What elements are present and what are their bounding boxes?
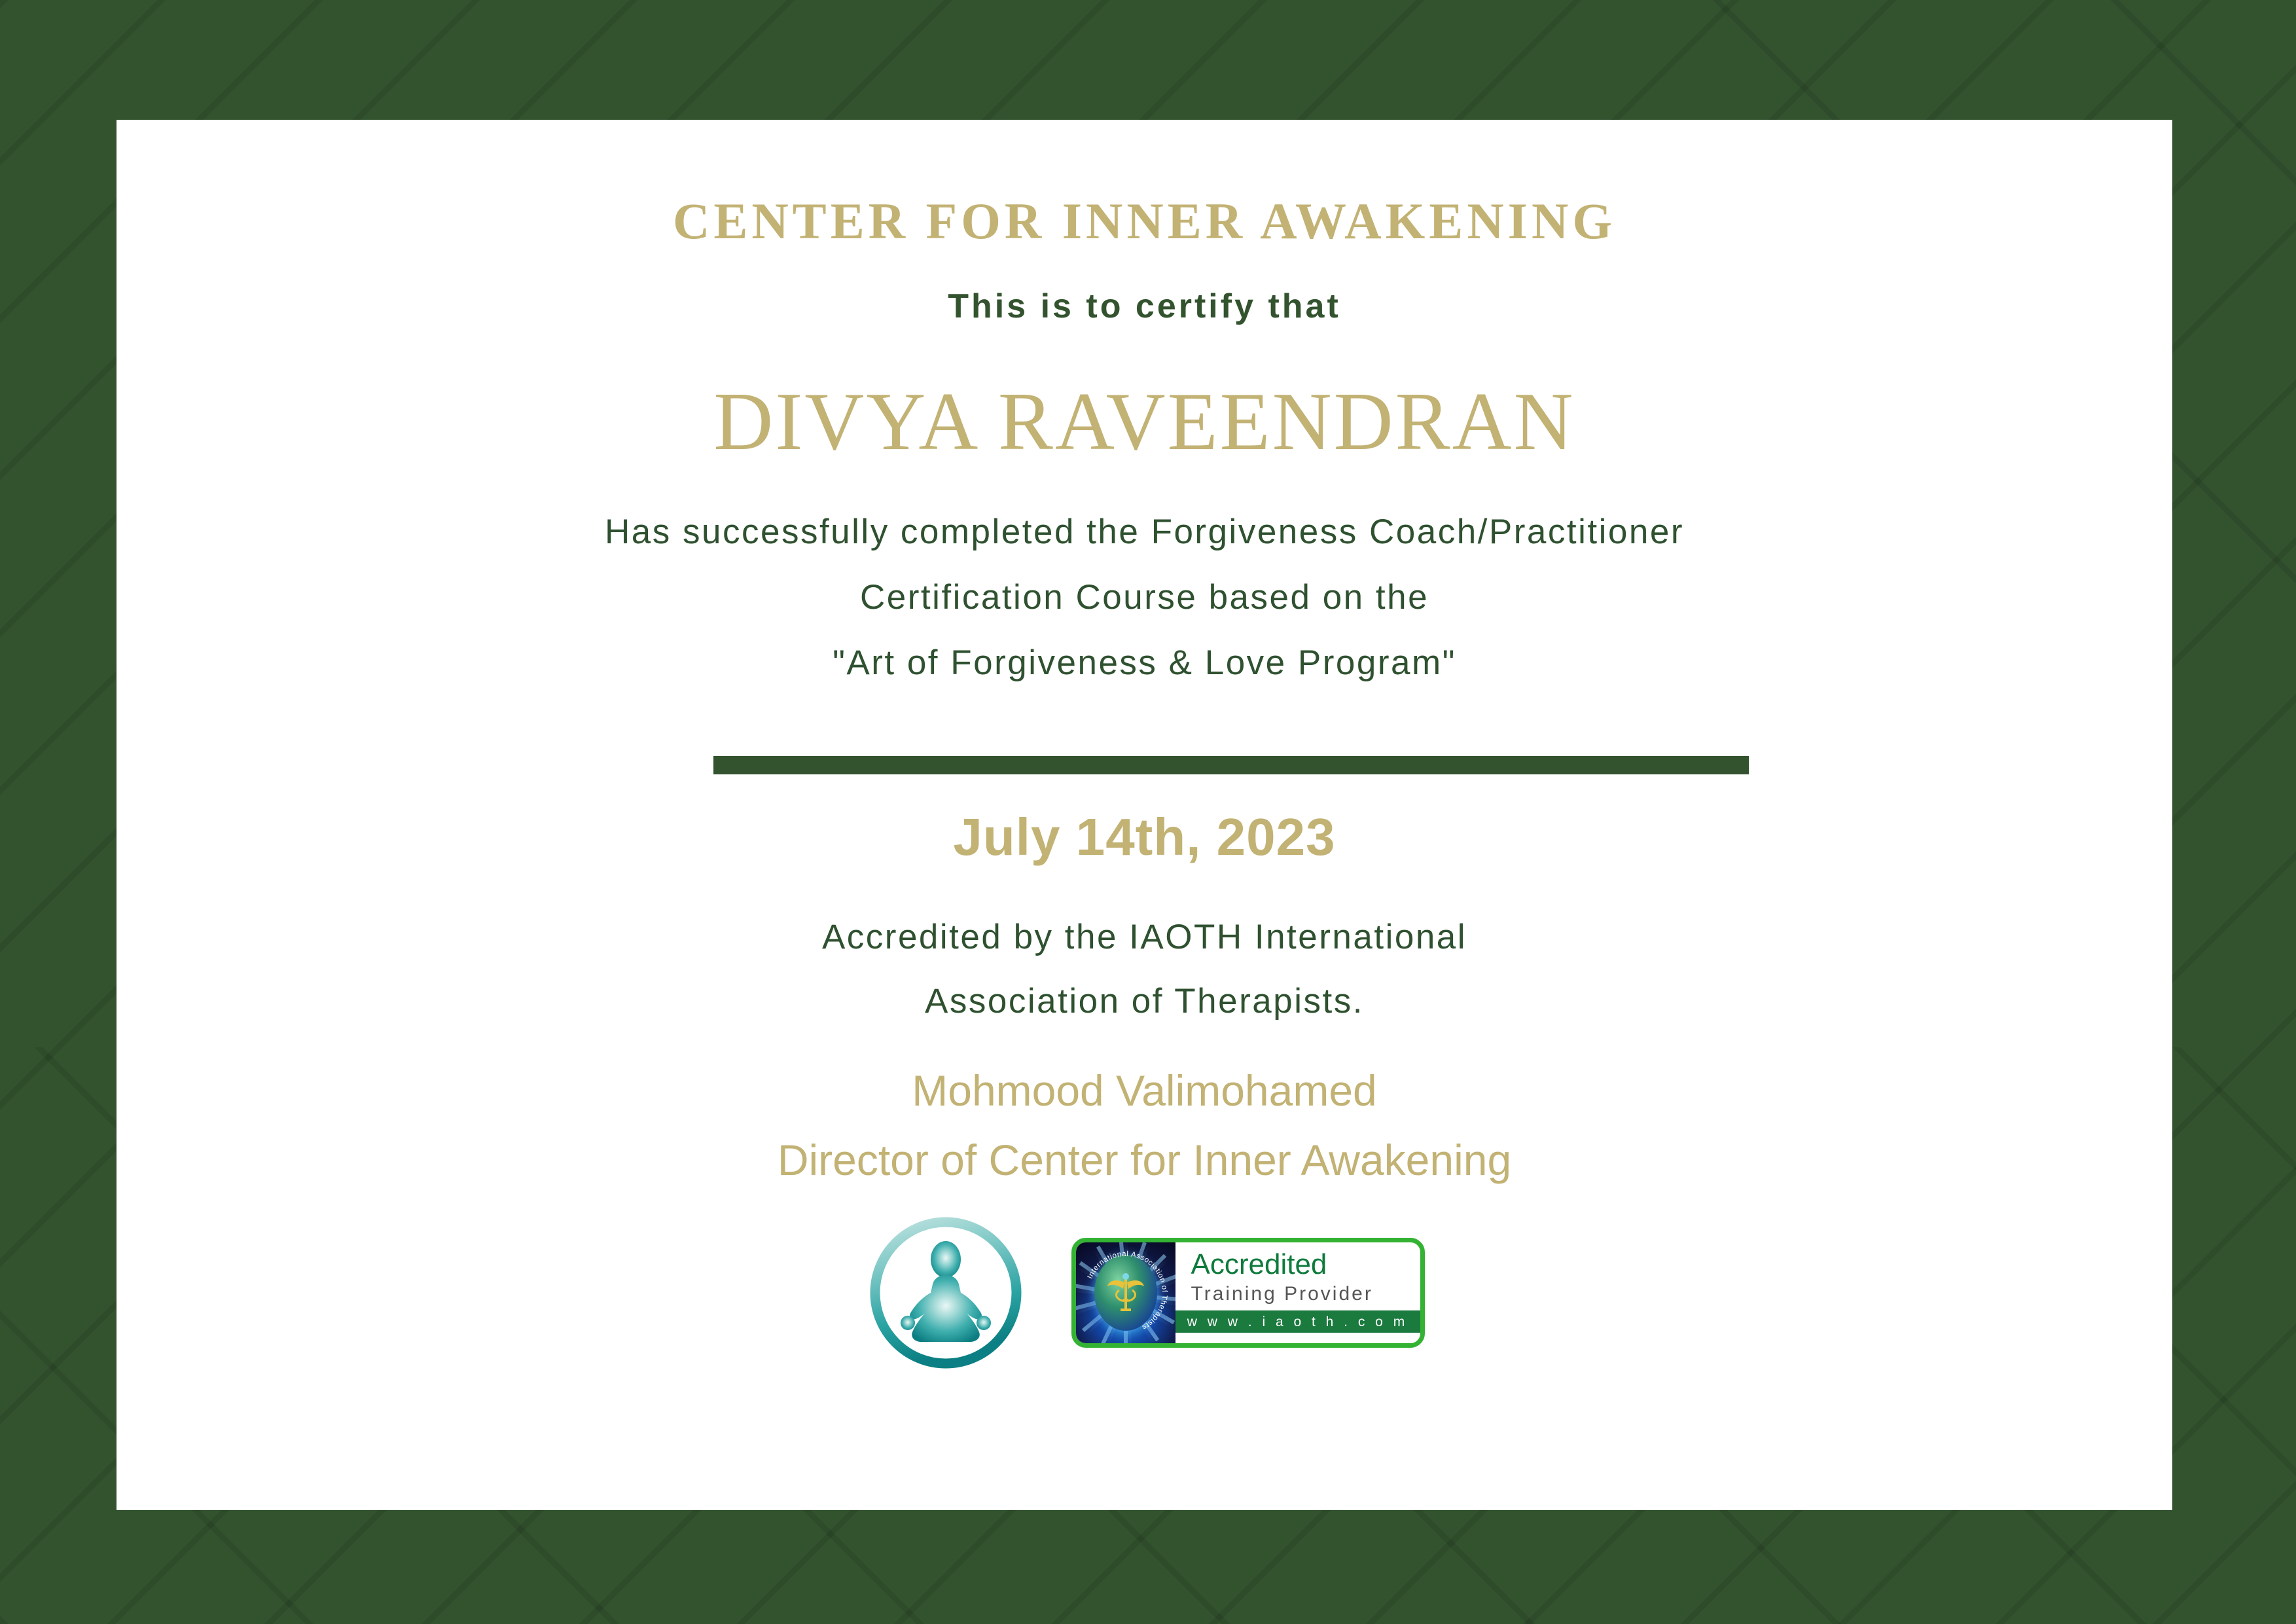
certificate-page: CENTER FOR INNER AWAKENING This is to ce…	[0, 0, 2296, 1624]
iaoth-seal-ring-text: International Association of Therapists	[1076, 1242, 1175, 1343]
course-description-line-2: Certification Course based on the	[117, 565, 2172, 630]
course-description-line-3: "Art of Forgiveness & Love Program"	[117, 630, 2172, 696]
accreditation-line-1: Accredited by the IAOTH International	[117, 905, 2172, 969]
iaoth-accredited-training-provider-badge: International Association of Therapists …	[1071, 1238, 1425, 1348]
signature-block: Mohmood Valimohamed Director of Center f…	[117, 1056, 2172, 1195]
logo-row: International Association of Therapists …	[117, 1212, 2172, 1374]
course-description: Has successfully completed the Forgivene…	[117, 499, 2172, 696]
meditating-figure-icon	[901, 1241, 991, 1342]
organization-title: CENTER FOR INNER AWAKENING	[117, 192, 2172, 251]
completion-date: July 14th, 2023	[117, 807, 2172, 867]
certificate-card: CENTER FOR INNER AWAKENING This is to ce…	[117, 120, 2172, 1510]
recipient-name: DIVYA RAVEENDRAN	[117, 375, 2172, 469]
lotus-meditation-logo	[865, 1212, 1027, 1374]
signatory-title: Director of Center for Inner Awakening	[117, 1125, 2172, 1195]
badge-url-bar: w w w . i a o t h . c o m	[1175, 1310, 1420, 1333]
badge-training-provider-label: Training Provider	[1175, 1279, 1420, 1304]
signatory-name: Mohmood Valimohamed	[117, 1056, 2172, 1125]
badge-accredited-label: Accredited	[1175, 1242, 1420, 1279]
iaoth-badge-text-panel: Accredited Training Provider w w w . i a…	[1175, 1242, 1420, 1343]
accreditation-line-2: Association of Therapists.	[117, 969, 2172, 1034]
iaoth-seal-icon: International Association of Therapists	[1076, 1242, 1175, 1343]
iaoth-seal-text: International Association of Therapists	[1086, 1250, 1168, 1331]
certify-statement: This is to certify that	[117, 287, 2172, 326]
horizontal-divider-bar	[713, 756, 1749, 774]
badge-website-url: w w w . i a o t h . c o m	[1187, 1315, 1408, 1329]
course-description-line-1: Has successfully completed the Forgivene…	[117, 499, 2172, 565]
svg-text:International Association of T: International Association of Therapists	[1086, 1250, 1168, 1331]
accreditation-statement: Accredited by the IAOTH International As…	[117, 905, 2172, 1034]
